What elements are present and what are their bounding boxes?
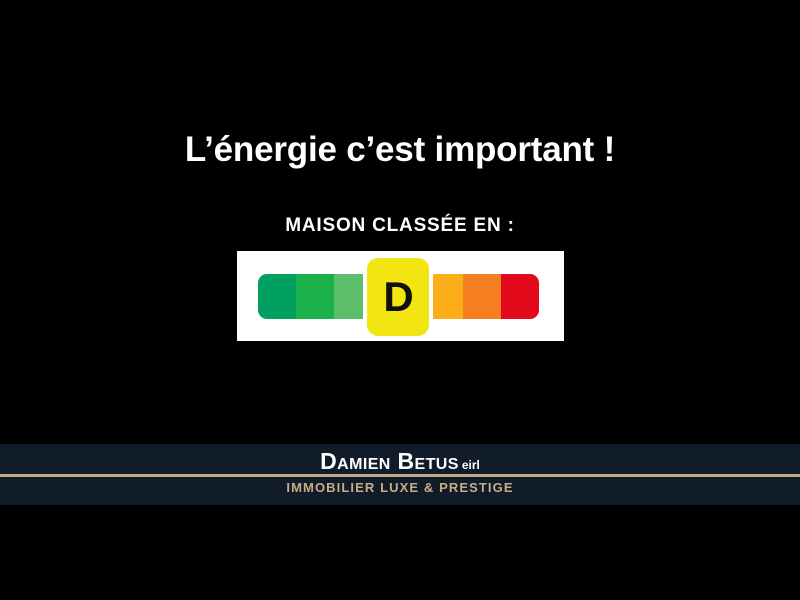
energy-segment-c (334, 274, 372, 319)
brand-name: Damien Betuseirl (0, 448, 800, 475)
brand-name-text: Damien Betus (320, 448, 459, 474)
energy-rating-panel: D (237, 251, 564, 341)
energy-segment-b (296, 274, 334, 319)
brand-tagline: IMMOBILIER LUXE & PRESTIGE (0, 480, 800, 495)
brand-divider-rule (0, 474, 800, 477)
energy-segment-f (463, 274, 501, 319)
energy-rating-bar: D (258, 274, 539, 319)
energy-segment-d-current: D (367, 258, 429, 336)
energy-segment-a (258, 274, 296, 319)
page-title: L’énergie c’est important ! (0, 131, 800, 170)
slide-canvas: L’énergie c’est important ! MAISON CLASS… (0, 0, 800, 600)
footer-brand-band: Damien Betuseirl IMMOBILIER LUXE & PREST… (0, 444, 800, 505)
energy-segment-g (501, 274, 539, 319)
brand-legal-suffix: eirl (462, 458, 480, 472)
energy-class-letter: D (383, 276, 413, 318)
subtitle-maison-classee: MAISON CLASSÉE EN : (0, 215, 800, 237)
energy-segment-e (425, 274, 463, 319)
